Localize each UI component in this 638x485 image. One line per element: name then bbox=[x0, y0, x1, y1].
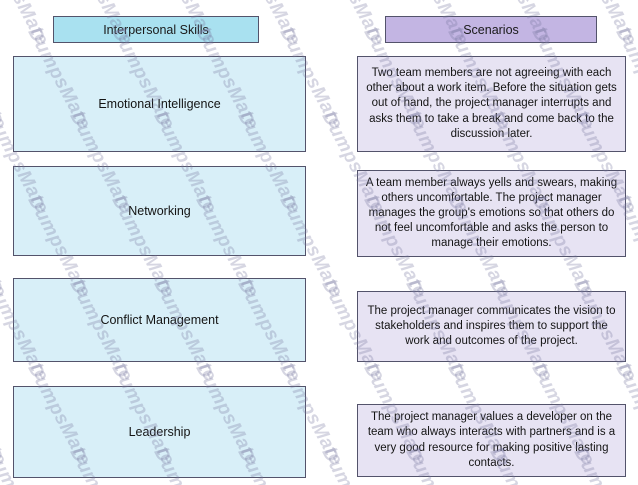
scenario-card-label: The project manager values a developer o… bbox=[363, 410, 620, 471]
skill-card[interactable]: Conflict Management bbox=[13, 278, 306, 362]
scenario-card[interactable]: The project manager values a developer o… bbox=[357, 404, 626, 477]
skill-card[interactable]: Emotional Intelligence bbox=[13, 56, 306, 152]
scenario-card-label: The project manager communicates the vis… bbox=[363, 304, 620, 350]
skill-card-label: Networking bbox=[14, 204, 305, 218]
scenario-card[interactable]: A team member always yells and swears, m… bbox=[357, 170, 626, 257]
scenario-card[interactable]: Two team members are not agreeing with e… bbox=[357, 56, 626, 152]
column-header-label: Scenarios bbox=[463, 23, 519, 37]
column-header-interpersonal-skills: Interpersonal Skills bbox=[53, 16, 259, 43]
skill-card-label: Conflict Management bbox=[14, 313, 305, 327]
skill-card[interactable]: Leadership bbox=[13, 386, 306, 478]
skill-card[interactable]: Networking bbox=[13, 166, 306, 256]
matching-exercise-board: Interpersonal Skills Scenarios Emotional… bbox=[0, 0, 638, 485]
scenario-card-label: Two team members are not agreeing with e… bbox=[363, 66, 620, 142]
scenario-card-label: A team member always yells and swears, m… bbox=[363, 176, 620, 252]
column-header-scenarios: Scenarios bbox=[385, 16, 597, 43]
column-header-label: Interpersonal Skills bbox=[103, 23, 209, 37]
skill-card-label: Emotional Intelligence bbox=[14, 97, 305, 111]
scenario-card[interactable]: The project manager communicates the vis… bbox=[357, 291, 626, 362]
skill-card-label: Leadership bbox=[14, 425, 305, 439]
